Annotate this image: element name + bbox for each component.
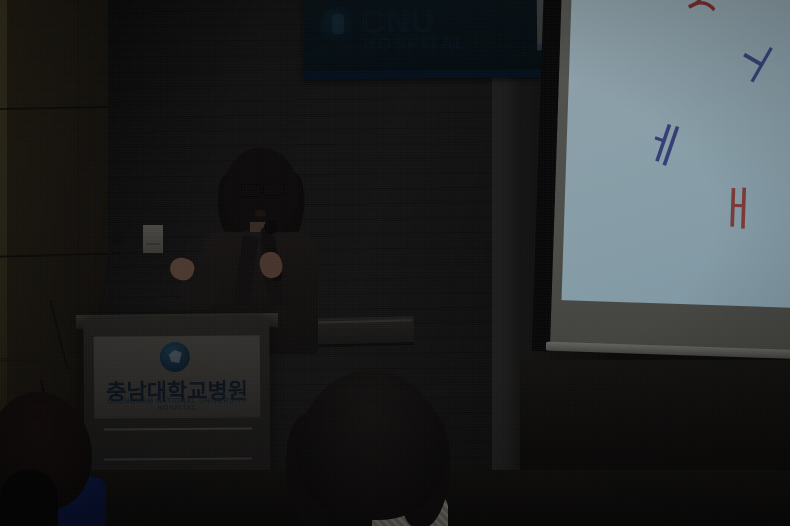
wall-column bbox=[492, 0, 520, 526]
cnu-hospital-banner: CNU HOSPITAL bbox=[302, 0, 575, 79]
presenter-mouth bbox=[255, 210, 266, 217]
screen-jamo-1: ㅜ bbox=[723, 29, 787, 91]
screen-jamo-0: ㅅ bbox=[671, 0, 731, 31]
wall-plate-line bbox=[146, 243, 160, 245]
projection-screen: ㅅㅜㅔㅐ bbox=[549, 0, 790, 370]
banner-subtitle: HOSPITAL bbox=[363, 34, 468, 55]
audience-center-hair bbox=[296, 370, 446, 520]
presentation-photo-scene: CNU HOSPITAL 열 ㅅㅜㅔㅐ bbox=[0, 0, 790, 526]
gooseneck-microphone-icon bbox=[112, 230, 123, 245]
podium-name-english: CHUNGNAM NATIONAL UNIVERSITY HOSPITAL bbox=[102, 397, 252, 412]
audience-member-center bbox=[296, 370, 446, 526]
wall-plate bbox=[143, 225, 163, 253]
podium-name-plate: 충남대학교병원 CHUNGNAM NATIONAL UNIVERSITY HOS… bbox=[94, 335, 261, 418]
glasses-bridge-icon bbox=[259, 188, 264, 190]
screen-jamo-2: ㅔ bbox=[636, 116, 691, 173]
screen-jamo-3: ㅐ bbox=[716, 185, 760, 232]
glasses-right-lens-icon bbox=[263, 183, 284, 196]
hospital-globe-logo-icon bbox=[160, 342, 190, 372]
left-wall-vertical-seam bbox=[78, 0, 79, 420]
projection-screen-surface: ㅅㅜㅔㅐ bbox=[561, 0, 790, 308]
glasses-left-lens-icon bbox=[241, 184, 262, 197]
audience-member-far-left bbox=[0, 470, 58, 526]
hospital-logo-icon bbox=[320, 7, 356, 43]
